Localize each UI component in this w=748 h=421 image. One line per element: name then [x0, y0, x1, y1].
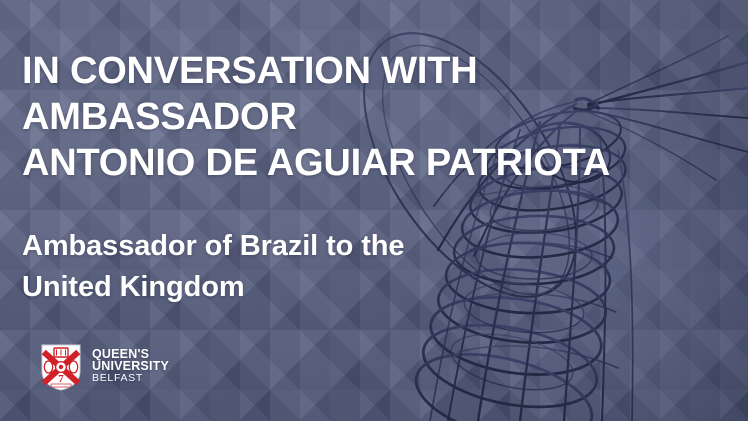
slide-title: IN CONVERSATION WITH AMBASSADOR ANTONIO … — [22, 48, 702, 186]
qub-crest-icon: 7 — [40, 343, 82, 391]
presentation-slide: IN CONVERSATION WITH AMBASSADOR ANTONIO … — [0, 0, 748, 421]
logo-line-belfast: BELFAST — [92, 373, 169, 385]
qub-logo: 7 QUEEN'S UNIVERSITY BELFAST — [40, 343, 169, 391]
logo-line-university: UNIVERSITY — [92, 361, 169, 373]
crest-numeral: 7 — [58, 373, 64, 385]
qub-logo-wordmark: QUEEN'S UNIVERSITY BELFAST — [92, 349, 169, 385]
slide-subtitle: Ambassador of Brazil to the United Kingd… — [22, 226, 642, 308]
